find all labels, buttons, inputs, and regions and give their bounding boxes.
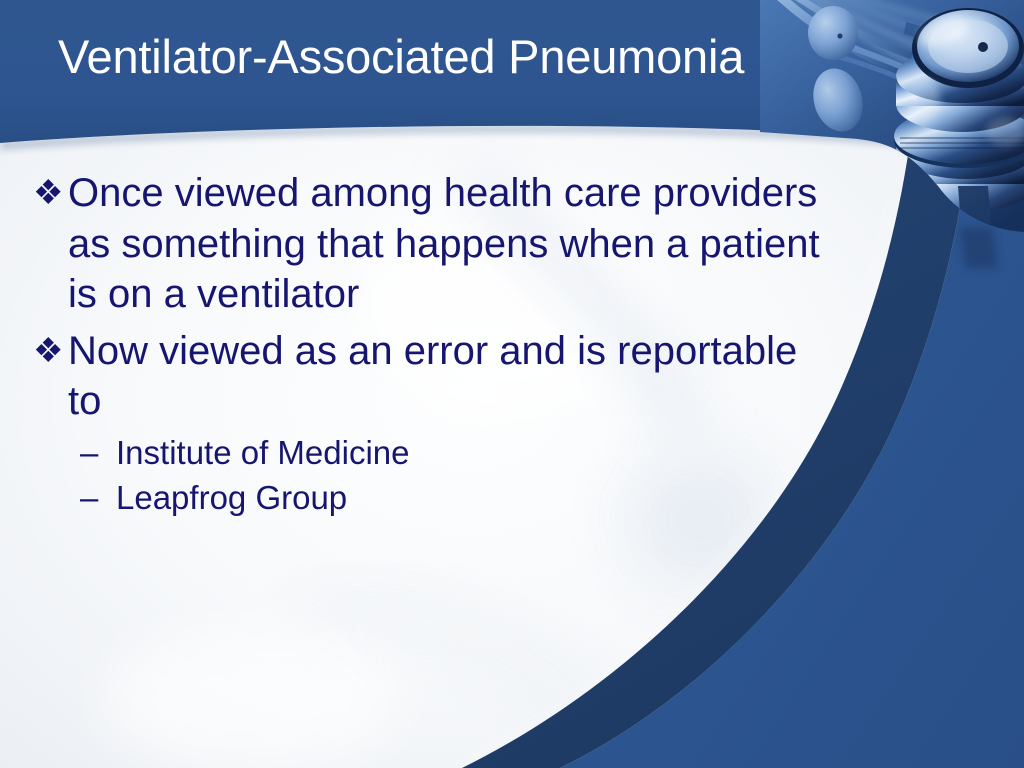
diamond-bullet-icon: ❖	[33, 169, 63, 218]
bullet-list: ❖ Once viewed among health care provider…	[28, 168, 828, 519]
bullet-text: Once viewed among health care providers …	[68, 168, 828, 320]
bullet-text: Now viewed as an error and is reportable…	[68, 326, 828, 427]
slide-body: ❖ Once viewed among health care provider…	[28, 168, 828, 523]
diamond-bullet-icon: ❖	[33, 327, 63, 376]
page-title: Ventilator-Associated Pneumonia	[58, 32, 898, 82]
list-item: – Leapfrog Group	[68, 478, 828, 519]
presentation-slide: Ventilator-Associated Pneumonia ❖ Once v…	[0, 0, 1024, 768]
dash-bullet-icon: –	[80, 478, 98, 519]
sub-bullet-list: – Institute of Medicine – Leapfrog Group	[68, 433, 828, 519]
stethoscope-stem	[960, 228, 998, 268]
dash-bullet-icon: –	[80, 433, 98, 474]
list-item: ❖ Now viewed as an error and is reportab…	[28, 326, 828, 519]
sub-bullet-text: Leapfrog Group	[116, 478, 828, 519]
title-area: Ventilator-Associated Pneumonia	[0, 0, 1024, 130]
sub-bullet-text: Institute of Medicine	[116, 433, 828, 474]
list-item: – Institute of Medicine	[68, 433, 828, 474]
list-item: ❖ Once viewed among health care provider…	[28, 168, 828, 320]
